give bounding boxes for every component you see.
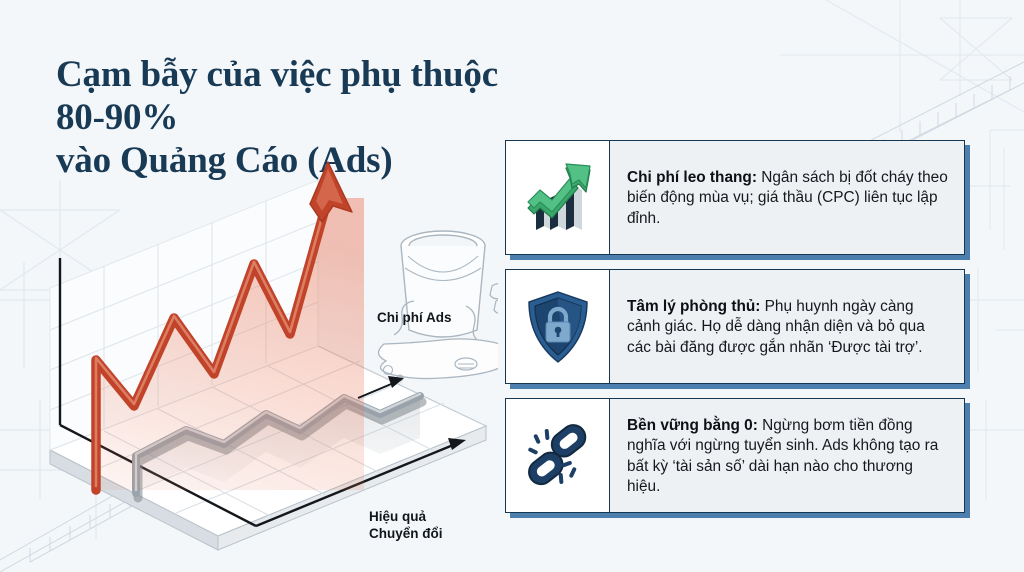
card-body-3: Bền vững bằng 0: Ngừng bơm tiền đồng ngh…	[610, 399, 964, 512]
infographic-canvas: Cạm bẫy của việc phụ thuộc 80-90% vào Qu…	[0, 0, 1024, 572]
card-text-2: Tâm lý phòng thủ: Phụ huynh ngày càng cả…	[627, 297, 950, 357]
card-body-1: Chi phí leo thang: Ngân sách bị đốt cháy…	[610, 141, 964, 254]
card-icon-panel-2	[506, 270, 610, 383]
shield-lock-icon	[525, 289, 591, 365]
card-text-1: Chi phí leo thang: Ngân sách bị đốt cháy…	[627, 168, 950, 228]
card-tam-ly-phong-thu[interactable]: Tâm lý phòng thủ: Phụ huynh ngày càng cả…	[505, 269, 965, 384]
chart-svg	[28, 138, 498, 558]
chart-label-ads-cost: Chi phí Ads	[377, 310, 452, 327]
title-line-1: Cạm bẫy của việc phụ thuộc 80-90%	[56, 54, 498, 138]
card-lead-3: Bền vững bằng 0:	[627, 417, 758, 434]
card-text-3: Bền vững bằng 0: Ngừng bơm tiền đồng ngh…	[627, 416, 950, 496]
growth-chart-arrow-icon	[520, 162, 596, 234]
card-body-2: Tâm lý phòng thủ: Phụ huynh ngày càng cả…	[610, 270, 964, 383]
card-lead-2: Tâm lý phòng thủ:	[627, 298, 760, 315]
points-card-list: Chi phí leo thang: Ngân sách bị đốt cháy…	[505, 140, 965, 527]
card-icon-panel-3	[506, 399, 610, 512]
isometric-chart-illustration: Chi phí Ads Hiệu quả Chuyển đổi	[28, 138, 498, 558]
card-ben-vung-bang-0[interactable]: Bền vững bằng 0: Ngừng bơm tiền đồng ngh…	[505, 398, 965, 513]
card-icon-panel-1	[506, 141, 610, 254]
leaking-bucket-illustration	[378, 231, 498, 381]
broken-chain-icon	[519, 419, 597, 493]
chart-label-conversion: Hiệu quả Chuyển đổi	[369, 509, 443, 543]
card-chi-phi-leo-thang[interactable]: Chi phí leo thang: Ngân sách bị đốt cháy…	[505, 140, 965, 255]
card-lead-1: Chi phí leo thang:	[627, 169, 757, 186]
